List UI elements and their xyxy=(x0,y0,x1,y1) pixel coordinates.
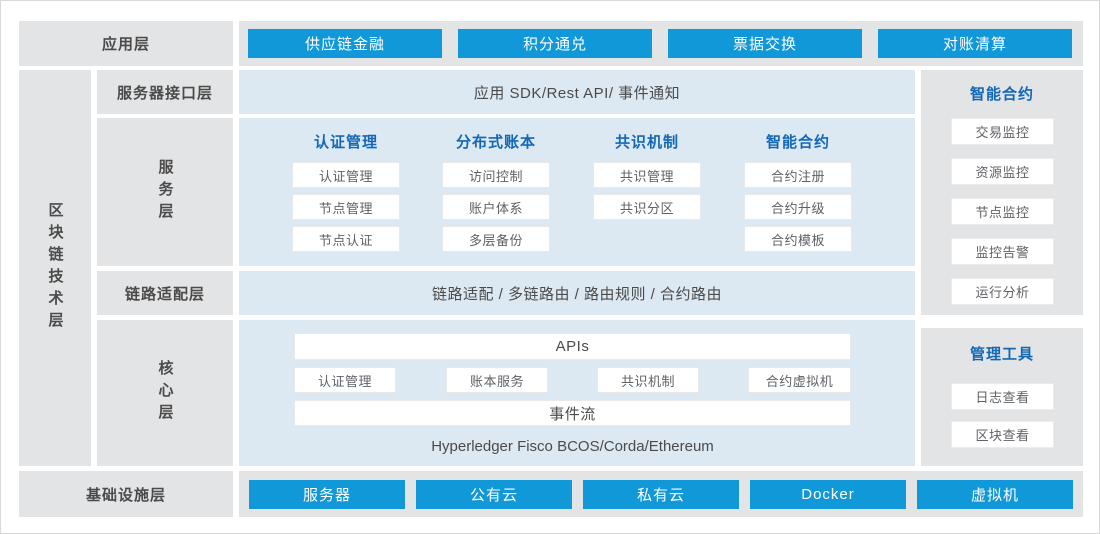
side-panel-0-title-text: 智能合约 xyxy=(970,83,1034,104)
service-column-1-item-0[interactable]: 访问控制 xyxy=(442,162,550,188)
service-column-0-item-1[interactable]: 节点管理 xyxy=(292,194,400,220)
infrastructure-item-3-label: Docker xyxy=(801,486,855,503)
service-column-3-item-1-label: 合约升级 xyxy=(771,198,825,217)
core-layer-event-stream-label: 事件流 xyxy=(549,403,596,424)
service-column-3-header-text: 智能合约 xyxy=(766,131,830,152)
service-column-1-header-text: 分布式账本 xyxy=(456,131,536,152)
application-item-3-label: 对账清算 xyxy=(943,33,1007,54)
core-layer-module-2[interactable]: 共识机制 xyxy=(597,367,699,393)
side-panel-0-item-0-label: 交易监控 xyxy=(975,122,1029,141)
service-column-1-item-2-label: 多层备份 xyxy=(469,230,523,249)
service-column-1-item-1[interactable]: 账户体系 xyxy=(442,194,550,220)
service-column-1-item-2[interactable]: 多层备份 xyxy=(442,226,550,252)
infrastructure-item-2-label: 私有云 xyxy=(637,484,685,505)
side-panel-0-item-4[interactable]: 运行分析 xyxy=(951,278,1054,305)
service-column-3-item-2[interactable]: 合约模板 xyxy=(744,226,852,252)
application-item-3[interactable]: 对账清算 xyxy=(878,29,1072,58)
infrastructure-item-4[interactable]: 虚拟机 xyxy=(917,480,1073,509)
service-column-0-item-1-label: 节点管理 xyxy=(319,198,373,217)
blockchain-tech-layer-label: 区块链技术层 xyxy=(19,70,91,466)
link-adaptation-layer-content: 链路适配 / 多链路由 / 路由规则 / 合约路由 xyxy=(239,271,915,315)
side-panel-0-item-0[interactable]: 交易监控 xyxy=(951,118,1054,145)
infrastructure-item-3[interactable]: Docker xyxy=(750,480,906,509)
service-column-0-item-0[interactable]: 认证管理 xyxy=(292,162,400,188)
core-layer-apis[interactable]: APIs xyxy=(294,333,851,360)
side-panel-0-item-2[interactable]: 节点监控 xyxy=(951,198,1054,225)
service-column-2-header: 共识机制 xyxy=(592,129,702,153)
service-column-2-item-0-label: 共识管理 xyxy=(620,166,674,185)
service-column-2-item-1-label: 共识分区 xyxy=(620,198,674,217)
service-column-1-item-0-label: 访问控制 xyxy=(469,166,523,185)
service-column-2-item-0[interactable]: 共识管理 xyxy=(593,162,701,188)
service-column-3-item-1[interactable]: 合约升级 xyxy=(744,194,852,220)
side-panel-1-item-0[interactable]: 日志查看 xyxy=(951,383,1054,410)
side-panel-1-item-1-label: 区块查看 xyxy=(975,425,1029,444)
infrastructure-item-1[interactable]: 公有云 xyxy=(416,480,572,509)
application-item-0[interactable]: 供应链金融 xyxy=(248,29,442,58)
service-layer-label: 服务层 xyxy=(97,118,233,266)
core-layer-module-3-label: 合约虚拟机 xyxy=(766,371,834,390)
service-column-1-item-1-label: 账户体系 xyxy=(469,198,523,217)
service-column-0-item-0-label: 认证管理 xyxy=(319,166,373,185)
core-layer-module-0-label: 认证管理 xyxy=(318,371,372,390)
application-item-0-label: 供应链金融 xyxy=(305,33,385,54)
application-layer-label-text: 应用层 xyxy=(102,33,150,54)
side-panel-1-title-text: 管理工具 xyxy=(970,343,1034,364)
application-item-1[interactable]: 积分通兑 xyxy=(458,29,652,58)
service-layer-label-text: 服务层 xyxy=(158,159,173,225)
server-interface-layer-content: 应用 SDK/Rest API/ 事件通知 xyxy=(239,70,915,114)
application-item-1-label: 积分通兑 xyxy=(523,33,587,54)
core-layer-module-1-label: 账本服务 xyxy=(470,371,524,390)
infrastructure-item-0[interactable]: 服务器 xyxy=(249,480,405,509)
core-layer-label-text: 核心层 xyxy=(158,360,173,426)
application-item-2[interactable]: 票据交换 xyxy=(668,29,862,58)
side-panel-0-item-4-label: 运行分析 xyxy=(975,282,1029,301)
service-column-0-item-2[interactable]: 节点认证 xyxy=(292,226,400,252)
core-layer-module-0[interactable]: 认证管理 xyxy=(294,367,396,393)
link-adaptation-layer-label-text: 链路适配层 xyxy=(125,283,205,304)
service-column-3-item-0-label: 合约注册 xyxy=(771,166,825,185)
architecture-diagram: 应用层 供应链金融 积分通兑 票据交换 对账清算 区块链技术层 服务器接口层 应… xyxy=(0,0,1100,534)
service-column-2-header-text: 共识机制 xyxy=(615,131,679,152)
core-layer-event-stream[interactable]: 事件流 xyxy=(294,400,851,426)
service-column-2-item-1[interactable]: 共识分区 xyxy=(593,194,701,220)
service-column-0-header-text: 认证管理 xyxy=(314,131,378,152)
service-column-1-header: 分布式账本 xyxy=(441,129,551,153)
side-panel-1-item-0-label: 日志查看 xyxy=(975,387,1029,406)
link-adaptation-layer-content-text: 链路适配 / 多链路由 / 路由规则 / 合约路由 xyxy=(432,283,722,304)
service-column-0-item-2-label: 节点认证 xyxy=(319,230,373,249)
side-panel-0-item-1-label: 资源监控 xyxy=(975,162,1029,181)
side-panel-0-title: 智能合约 xyxy=(921,81,1083,105)
infrastructure-layer-label-text: 基础设施层 xyxy=(86,484,166,505)
core-layer-module-3[interactable]: 合约虚拟机 xyxy=(748,367,851,393)
service-column-3-item-2-label: 合约模板 xyxy=(771,230,825,249)
side-panel-0-item-1[interactable]: 资源监控 xyxy=(951,158,1054,185)
side-panel-0-item-3[interactable]: 监控告警 xyxy=(951,238,1054,265)
application-item-2-label: 票据交换 xyxy=(733,33,797,54)
core-layer-platforms-text: Hyperledger Fisco BCOS/Corda/Ethereum xyxy=(431,438,714,455)
server-interface-layer-label: 服务器接口层 xyxy=(97,70,233,114)
infrastructure-layer-label: 基础设施层 xyxy=(19,471,233,517)
server-interface-layer-label-text: 服务器接口层 xyxy=(117,82,213,103)
service-column-3-item-0[interactable]: 合约注册 xyxy=(744,162,852,188)
service-column-3-header: 智能合约 xyxy=(743,129,853,153)
infrastructure-item-0-label: 服务器 xyxy=(303,484,351,505)
core-layer-label: 核心层 xyxy=(97,320,233,466)
infrastructure-item-4-label: 虚拟机 xyxy=(971,484,1019,505)
core-layer-module-2-label: 共识机制 xyxy=(621,371,675,390)
core-layer-apis-label: APIs xyxy=(556,338,590,355)
link-adaptation-layer-label: 链路适配层 xyxy=(97,271,233,315)
blockchain-tech-layer-label-text: 区块链技术层 xyxy=(48,202,63,334)
side-panel-1-item-1[interactable]: 区块查看 xyxy=(951,421,1054,448)
application-layer-label: 应用层 xyxy=(19,21,233,66)
core-layer-module-1[interactable]: 账本服务 xyxy=(446,367,548,393)
server-interface-layer-content-text: 应用 SDK/Rest API/ 事件通知 xyxy=(474,82,680,103)
service-column-0-header: 认证管理 xyxy=(291,129,401,153)
side-panel-1-title: 管理工具 xyxy=(921,341,1083,365)
infrastructure-item-2[interactable]: 私有云 xyxy=(583,480,739,509)
side-panel-0-item-2-label: 节点监控 xyxy=(975,202,1029,221)
infrastructure-item-1-label: 公有云 xyxy=(470,484,518,505)
side-panel-0-item-3-label: 监控告警 xyxy=(975,242,1029,261)
core-layer-platforms: Hyperledger Fisco BCOS/Corda/Ethereum xyxy=(294,433,851,459)
